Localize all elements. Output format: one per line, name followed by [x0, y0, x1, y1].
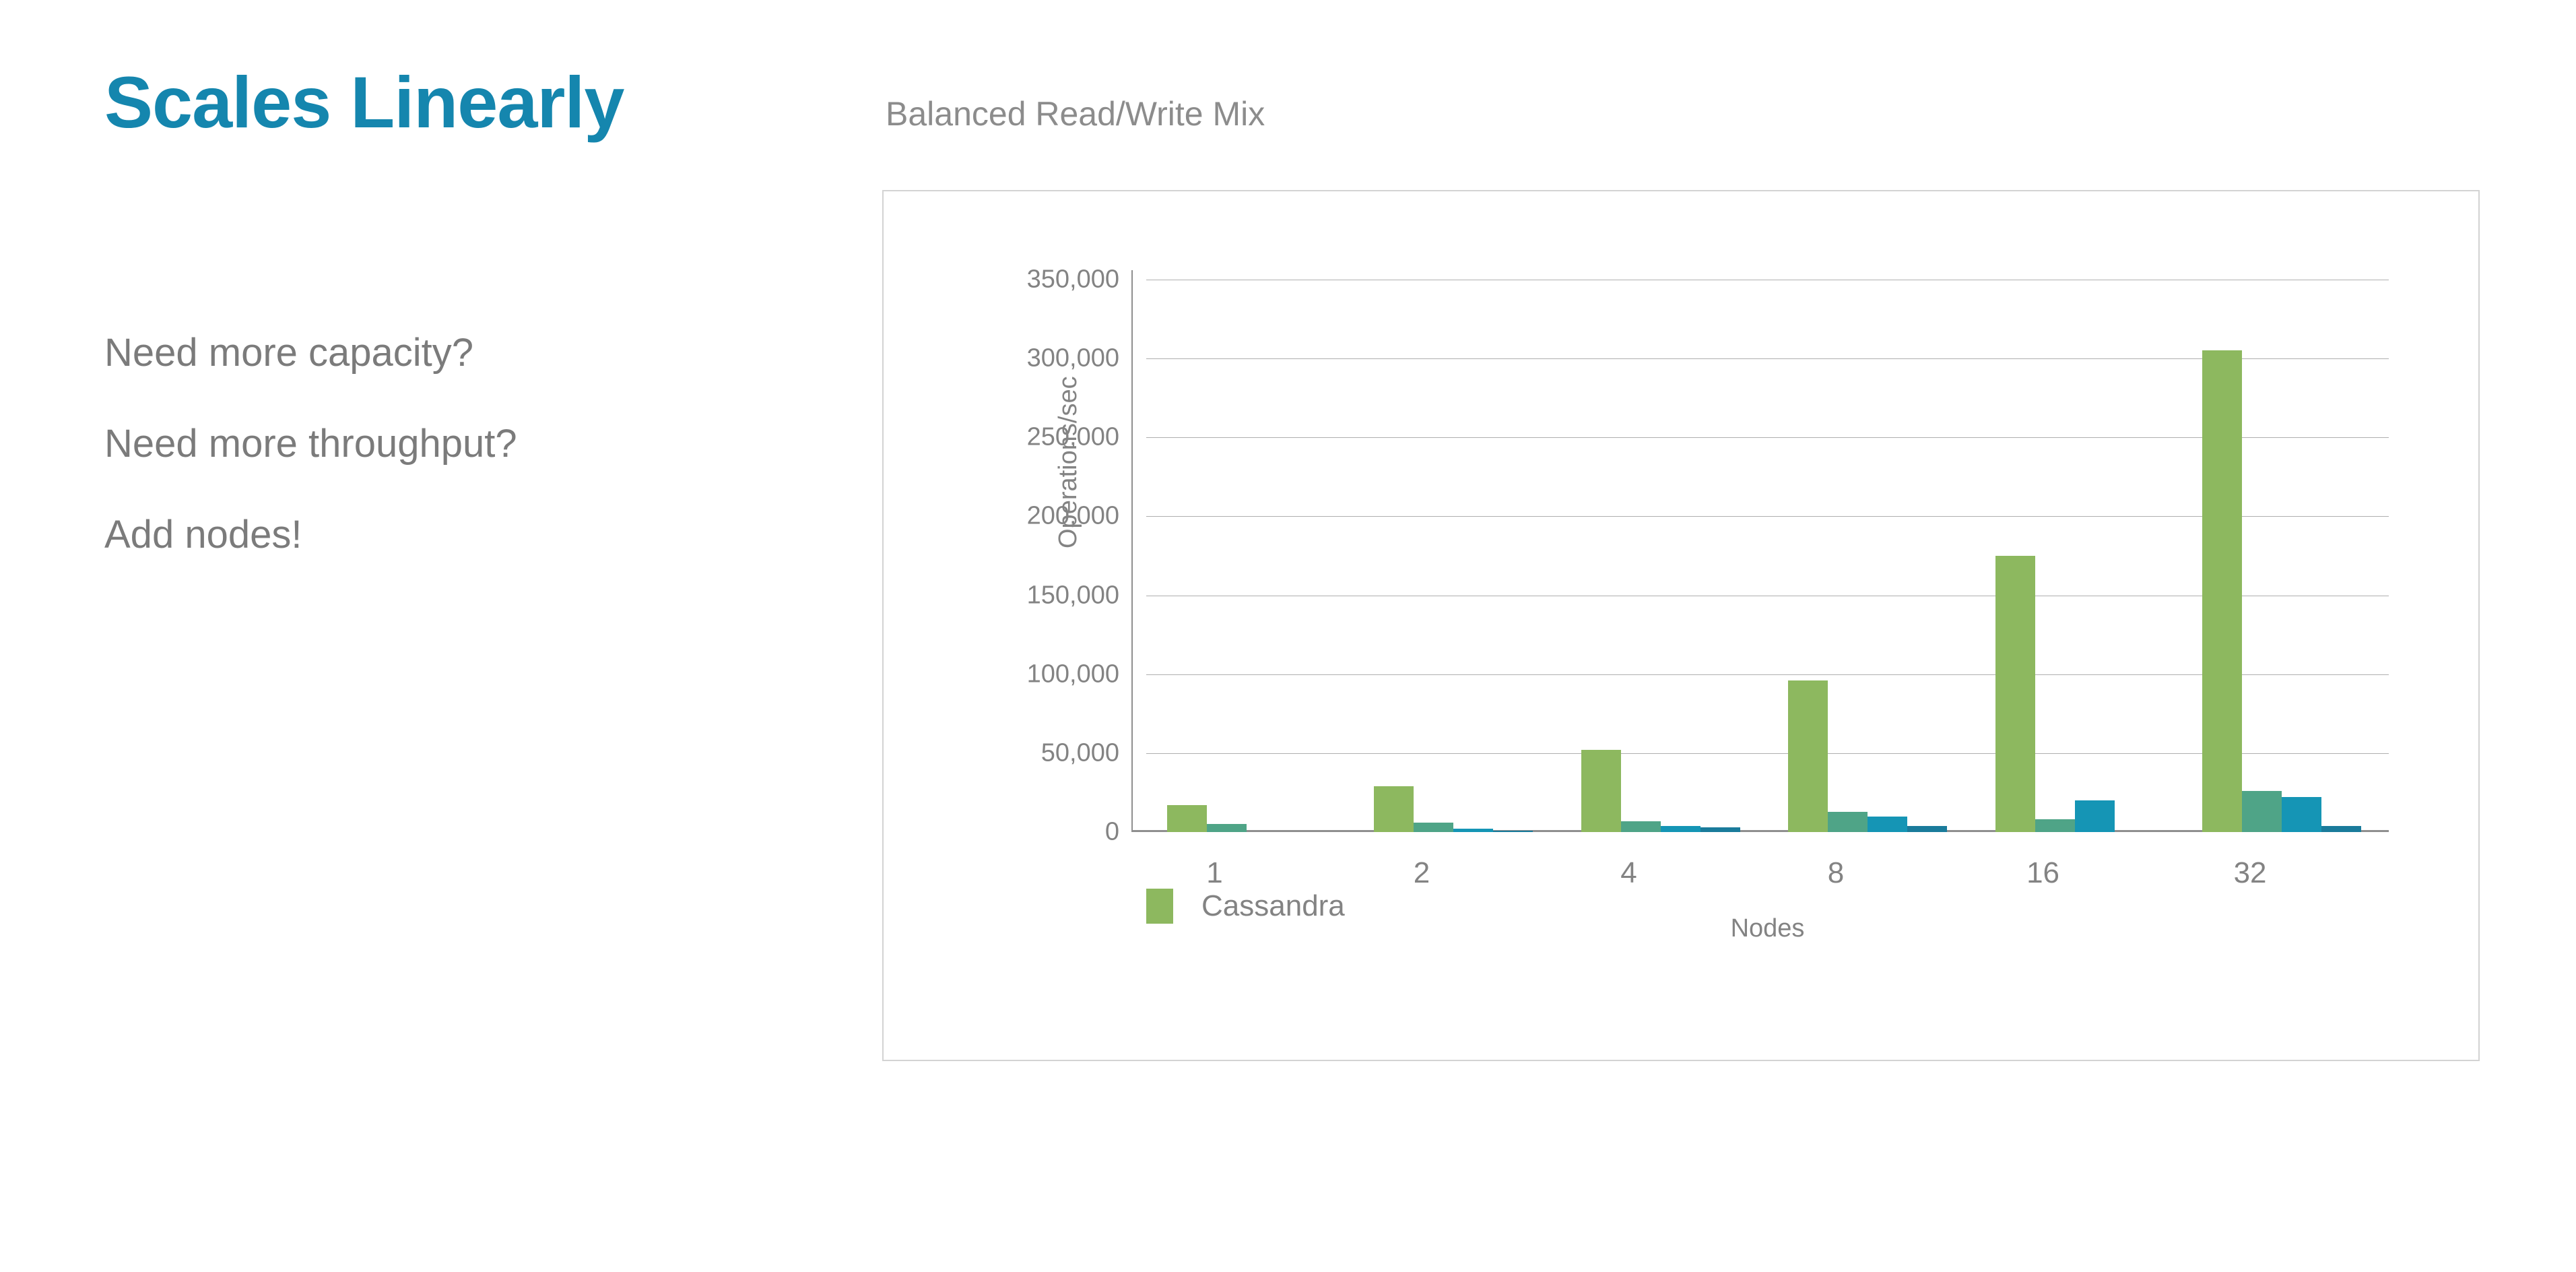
list-item: Add nodes! — [104, 515, 778, 554]
x-axis-tick-label: 8 — [1828, 856, 1844, 890]
chart-title: Balanced Read/Write Mix — [886, 94, 1265, 133]
bar[interactable] — [1907, 826, 1947, 832]
bar[interactable] — [1788, 680, 1828, 832]
y-axis-tick-label: 300,000 — [1027, 344, 1119, 373]
y-axis-tick-label: 200,000 — [1027, 502, 1119, 531]
legend-label: Cassandra — [1201, 889, 1345, 923]
bar[interactable] — [2242, 791, 2282, 832]
y-axis-line — [1131, 270, 1133, 832]
y-axis-tick-label: 150,000 — [1027, 581, 1119, 610]
bar[interactable] — [1453, 829, 1493, 832]
bar[interactable] — [1167, 805, 1207, 832]
bar[interactable] — [2202, 350, 2242, 832]
chart-legend: Cassandra — [1146, 889, 1385, 924]
x-axis-title: Nodes — [1731, 914, 1805, 943]
bar[interactable] — [2321, 826, 2361, 832]
x-axis-tick-label: 32 — [2234, 856, 2267, 890]
bar[interactable] — [1581, 750, 1621, 832]
list-item: Need more throughput? — [104, 424, 778, 464]
bar[interactable] — [1828, 812, 1868, 832]
bar[interactable] — [2075, 800, 2115, 832]
slide-left-column: Scales Linearly Need more capacity? Need… — [104, 64, 812, 140]
bar[interactable] — [1207, 824, 1247, 832]
bar-group — [1581, 280, 1740, 832]
legend-item[interactable]: Cassandra — [1146, 889, 1345, 924]
bar[interactable] — [2282, 797, 2321, 832]
bar[interactable] — [1493, 831, 1533, 832]
bullet-list: Need more capacity? Need more throughput… — [104, 333, 778, 606]
bar-group — [1995, 280, 2154, 832]
x-axis-tick-label: 4 — [1620, 856, 1637, 890]
bar-group — [1788, 280, 1947, 832]
bar[interactable] — [1661, 826, 1700, 832]
bar[interactable] — [2035, 819, 2075, 832]
bar-group — [1374, 280, 1533, 832]
plot-area: 050,000100,000150,000200,000250,000300,0… — [1146, 280, 2389, 832]
chart-panel: Operations/sec 050,000100,000150,000200,… — [882, 190, 2480, 1061]
y-axis-tick-label: 0 — [1105, 818, 1119, 847]
legend-swatch-icon — [1146, 889, 1173, 924]
y-axis-tick-label: 350,000 — [1027, 265, 1119, 294]
bar[interactable] — [1414, 823, 1453, 832]
y-axis-tick-label: 100,000 — [1027, 660, 1119, 689]
bar-group — [1167, 280, 1326, 832]
page-title: Scales Linearly — [104, 64, 812, 140]
bar[interactable] — [1700, 827, 1740, 832]
bar[interactable] — [1374, 786, 1414, 832]
x-axis-tick-label: 1 — [1206, 856, 1222, 890]
y-axis-tick-label: 250,000 — [1027, 423, 1119, 452]
x-axis-tick-label: 16 — [2026, 856, 2059, 890]
bar[interactable] — [1621, 821, 1661, 832]
y-axis-tick-label: 50,000 — [1041, 738, 1119, 767]
list-item: Need more capacity? — [104, 333, 778, 373]
bar[interactable] — [1868, 817, 1907, 832]
bar[interactable] — [1995, 556, 2035, 832]
bar-group — [2202, 280, 2361, 832]
x-axis-tick-label: 2 — [1414, 856, 1430, 890]
